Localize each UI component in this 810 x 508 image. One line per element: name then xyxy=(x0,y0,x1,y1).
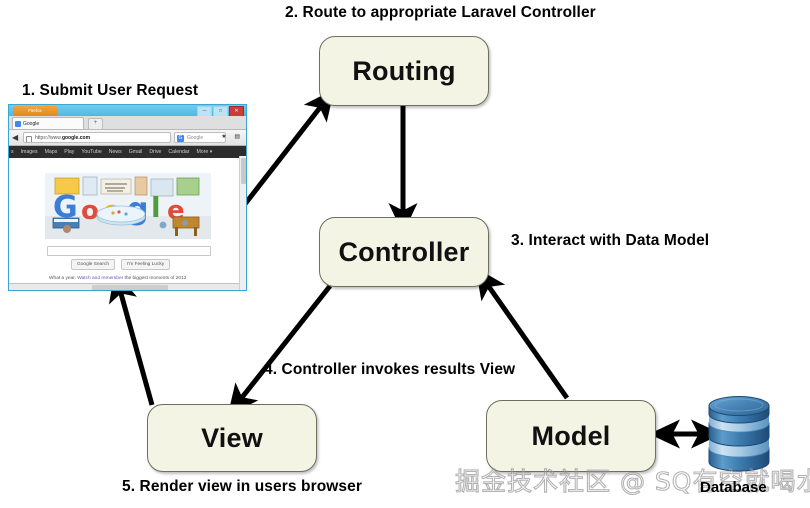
promo-suffix: the biggest moments of 2012 xyxy=(123,276,186,281)
arrow-browser-to-routing xyxy=(245,105,322,204)
vertical-scroll-thumb[interactable] xyxy=(241,158,246,184)
gbar-item-more[interactable]: More ▾ xyxy=(196,149,212,155)
browser-search-input[interactable]: G Google xyxy=(174,132,226,143)
step-label-3: 3. Interact with Data Model xyxy=(511,232,709,250)
browser-tab-google[interactable]: Google xyxy=(12,117,84,129)
browser-window-screenshot[interactable]: Firefox ─ □ ✕ Google + ◀ https://www.goo… xyxy=(8,104,247,291)
diagram-canvas: 1. Submit User Request 2. Route to appro… xyxy=(0,0,810,508)
url-host: google.com xyxy=(62,135,90,141)
database-cylinder-icon[interactable] xyxy=(706,392,772,478)
im-feeling-lucky-button[interactable]: I'm Feeling Lucky xyxy=(121,259,170,270)
bookmark-and-menu-icons[interactable]: ★ ▤ xyxy=(221,133,243,142)
gbar-item-youtube[interactable]: YouTube xyxy=(81,149,101,155)
horizontal-scroll-thumb[interactable] xyxy=(92,285,168,291)
arrow-model-to-controller xyxy=(487,284,567,398)
google-search-buttons: Google Search I'm Feeling Lucky xyxy=(71,259,170,270)
google-doodle-image[interactable]: G o o g l e xyxy=(45,173,211,239)
browser-titlebar: Firefox ─ □ ✕ xyxy=(9,105,246,116)
node-routing-label: Routing xyxy=(352,58,455,85)
step-label-4: 4. Controller invokes results View xyxy=(264,361,515,379)
promo-prefix: What a year. xyxy=(49,276,77,281)
browser-search-placeholder: Google xyxy=(187,135,203,141)
svg-text:o: o xyxy=(81,196,99,226)
gbar-item-maps[interactable]: Maps xyxy=(45,149,58,155)
gbar-item-gmail[interactable]: Gmail xyxy=(129,149,143,155)
google-search-button[interactable]: Google Search xyxy=(71,259,115,270)
browser-nav-bar: ◀ https://www.google.com G Google ★ ▤ xyxy=(9,130,246,146)
gbar-item-0[interactable]: s xyxy=(11,149,14,155)
google-search-engine-icon: G xyxy=(177,135,184,142)
step-label-5: 5. Render view in users browser xyxy=(122,478,362,496)
node-view[interactable]: View xyxy=(147,404,317,472)
arrow-view-to-browser xyxy=(120,290,152,405)
gbar-item-play[interactable]: Play xyxy=(64,149,74,155)
google-favicon-icon xyxy=(15,121,21,127)
google-homepage-content: G o o g l e xyxy=(9,158,246,291)
node-model[interactable]: Model xyxy=(486,400,656,472)
gbar-item-images[interactable]: Images xyxy=(21,149,38,155)
step-label-1: 1. Submit User Request xyxy=(22,82,198,100)
url-prefix: https://www. xyxy=(35,135,62,141)
promo-link[interactable]: Watch and remember xyxy=(77,276,123,281)
node-model-label: Model xyxy=(532,423,611,450)
node-routing[interactable]: Routing xyxy=(319,36,489,106)
node-view-label: View xyxy=(201,425,263,452)
arrow-controller-to-view xyxy=(240,286,330,400)
node-controller-label: Controller xyxy=(338,239,469,266)
database-label: Database xyxy=(700,479,767,496)
gbar-item-news[interactable]: News xyxy=(109,149,122,155)
gbar-item-calendar[interactable]: Calendar xyxy=(168,149,189,155)
lock-icon xyxy=(26,136,32,144)
new-tab-button[interactable]: + xyxy=(88,118,103,130)
browser-vertical-scrollbar[interactable] xyxy=(239,156,246,291)
browser-horizontal-scrollbar[interactable] xyxy=(9,283,246,291)
browser-tab-strip: Google + xyxy=(9,116,246,130)
google-search-field[interactable] xyxy=(47,246,211,256)
svg-text:l: l xyxy=(151,191,161,224)
google-promo-text: What a year. Watch and remember the bigg… xyxy=(49,276,186,281)
url-bar[interactable]: https://www.google.com xyxy=(23,132,171,143)
browser-tab-label: Google xyxy=(23,121,39,127)
gbar-item-drive[interactable]: Drive xyxy=(149,149,161,155)
google-top-nav-bar: s Images Maps Play YouTube News Gmail Dr… xyxy=(9,146,246,158)
step-label-2: 2. Route to appropriate Laravel Controll… xyxy=(285,4,596,22)
browser-app-menu-button[interactable]: Firefox xyxy=(13,106,57,116)
node-controller[interactable]: Controller xyxy=(319,217,489,287)
back-arrow-icon[interactable]: ◀ xyxy=(12,133,18,142)
